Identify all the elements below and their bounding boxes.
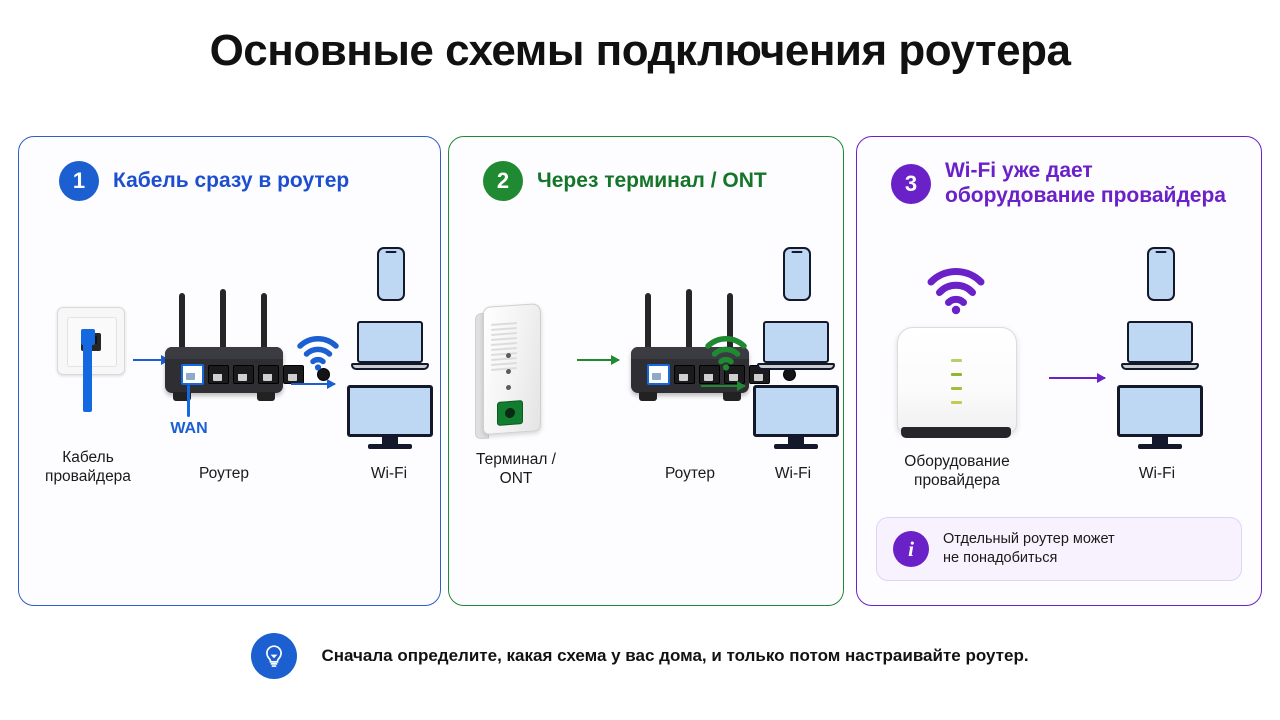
router-lan-port-3: [258, 365, 279, 384]
panel1-header: 1 Кабель сразу в роутер: [59, 161, 349, 201]
monitor-device-icon: [347, 385, 433, 451]
panel2-header: 2 Через терминал / ONT: [483, 161, 767, 201]
footer-tip: Сначала определите, какая схема у вас до…: [0, 628, 1280, 684]
info-icon: i: [893, 531, 929, 567]
panel3-number-badge: 3: [891, 164, 931, 204]
monitor2-foot: [774, 444, 818, 449]
isp-led-3: [951, 387, 962, 390]
router-device: [165, 297, 283, 407]
panel1-label-wifi: Wi-Fi: [337, 465, 441, 484]
arrow-socket-to-router: [133, 359, 169, 361]
panel3-header: 3 Wi-Fi уже дает оборудование провайдера: [891, 159, 1226, 209]
laptop3-screen: [1127, 321, 1193, 363]
phone-device-icon-2: [783, 247, 811, 301]
laptop3-base: [1121, 363, 1199, 370]
panel1-label-router: Роутер: [165, 465, 283, 484]
monitor-device-icon-2: [753, 385, 839, 451]
monitor3-screen: [1117, 385, 1203, 437]
laptop-screen: [357, 321, 423, 363]
laptop2-screen: [763, 321, 829, 363]
wan-callout-line: [187, 385, 190, 417]
note-box: i Отдельный роутер может не понадобиться: [876, 517, 1242, 581]
note-text: Отдельный роутер может не понадобиться: [943, 530, 1115, 568]
isp-gateway-base: [901, 427, 1011, 438]
ont-vents: [491, 322, 517, 368]
panel1-label-wan: WAN: [157, 419, 221, 438]
ont-green-port: [497, 400, 523, 426]
panel3-label-wifi: Wi-Fi: [1109, 465, 1205, 484]
laptop-device-icon-3: [1121, 321, 1199, 373]
router2-wan-port: [647, 364, 670, 385]
monitor-neck: [382, 437, 398, 444]
router2-antenna-left: [645, 293, 651, 351]
page-title: Основные схемы подключения роутера: [0, 26, 1280, 76]
router-foot-right: [257, 392, 275, 401]
arrow-gateway-to-wifi: [1049, 377, 1105, 379]
panel-ont-terminal: 2 Через терминал / ONT Терминал / ONT: [448, 136, 844, 606]
panel-cable-direct: 1 Кабель сразу в роутер Кабель провайдер…: [18, 136, 441, 606]
wifi-icon-green: [703, 333, 749, 371]
arrow-router-to-wifi: [291, 383, 335, 385]
panel1-title: Кабель сразу в роутер: [113, 169, 349, 194]
router-antenna-left: [179, 293, 185, 351]
arrow-ont-to-router: [577, 359, 619, 361]
panel2-label-wifi: Wi-Fi: [745, 465, 841, 484]
isp-gateway-leds: [951, 359, 962, 415]
router-lan-port-1: [208, 365, 229, 384]
panel3-label-source: Оборудование провайдера: [871, 453, 1043, 490]
monitor2-screen: [753, 385, 839, 437]
arrow-router-to-wifi-2: [701, 385, 745, 387]
router-antenna-center: [220, 289, 226, 351]
panel2-label-source: Терминал / ONT: [455, 451, 577, 488]
panel3-title: Wi-Fi уже дает оборудование провайдера: [945, 159, 1226, 209]
diagram-canvas: Основные схемы подключения роутера 1 Каб…: [0, 0, 1280, 720]
router-wan-port: [181, 364, 204, 385]
wifi-icon-blue: [295, 333, 341, 371]
provider-cable: [83, 342, 92, 412]
router2-antenna-center: [686, 289, 692, 351]
panel2-number-badge: 2: [483, 161, 523, 201]
ont-terminal-device: [475, 305, 551, 437]
router2-foot-right: [723, 392, 741, 401]
laptop2-base: [757, 363, 835, 370]
panel3-title-line1: Wi-Fi уже дает: [945, 159, 1093, 182]
monitor-device-icon-3: [1117, 385, 1203, 451]
laptop-device-icon-2: [757, 321, 835, 373]
monitor3-neck: [1152, 437, 1168, 444]
monitor-foot: [368, 444, 412, 449]
monitor2-neck: [788, 437, 804, 444]
panel2-title: Через терминал / ONT: [537, 169, 767, 194]
panel1-number-badge: 1: [59, 161, 99, 201]
monitor-screen: [347, 385, 433, 437]
isp-led-2: [951, 373, 962, 376]
laptop-device-icon: [351, 321, 429, 373]
router2-foot-left: [639, 392, 657, 401]
monitor3-foot: [1138, 444, 1182, 449]
router-antenna-right: [261, 293, 267, 351]
panel3-title-line2: оборудование провайдера: [945, 184, 1226, 209]
phone-device-icon: [377, 247, 405, 301]
laptop-base: [351, 363, 429, 370]
wifi-icon-purple: [925, 265, 987, 315]
lightbulb-icon: [251, 633, 297, 679]
panel1-label-source: Кабель провайдера: [23, 449, 153, 486]
panel2-label-router: Роутер: [631, 465, 749, 484]
isp-led-4: [951, 401, 962, 404]
isp-led-1: [951, 359, 962, 362]
router2-lan-port-1: [674, 365, 695, 384]
phone-device-icon-3: [1147, 247, 1175, 301]
footer-text: Сначала определите, какая схема у вас до…: [321, 646, 1028, 666]
router-lan-port-2: [233, 365, 254, 384]
isp-gateway-device: [897, 327, 1015, 441]
